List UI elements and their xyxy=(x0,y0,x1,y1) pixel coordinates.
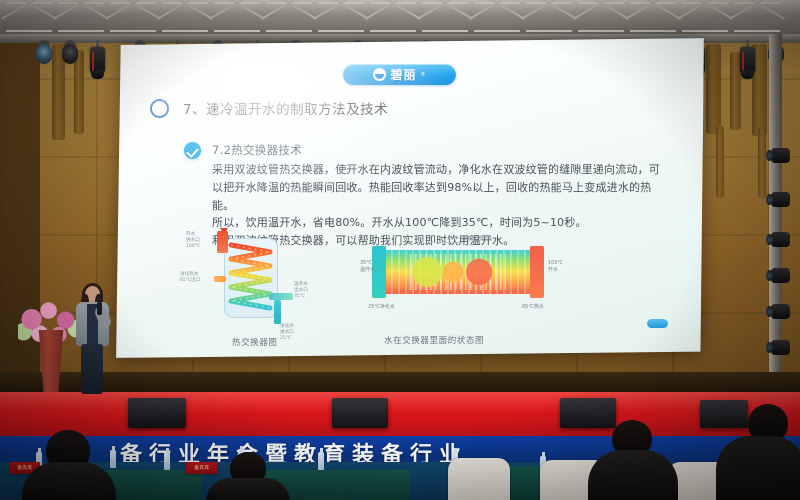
check-circle-icon xyxy=(184,142,201,159)
page-badge[interactable] xyxy=(647,319,668,328)
stage-monitor-speaker xyxy=(560,398,616,428)
warm-water-outlet xyxy=(269,293,293,300)
side-light xyxy=(771,148,790,163)
section-title: 7.2热交换器技术 xyxy=(212,142,664,158)
audience-shoulders xyxy=(716,436,800,500)
name-placard: 嘉宾席 xyxy=(186,462,218,474)
coil-graphic xyxy=(227,242,275,314)
stage-monitor-speaker xyxy=(700,400,748,428)
diagram-label: 双波纹管传热 xyxy=(462,236,492,243)
audience-shoulders xyxy=(22,462,116,500)
diagram-vertical-exchanger: 开水进水口100℃ 净化热水85℃出口 温开水出水口35℃ 净化水进水口25℃ … xyxy=(176,234,366,352)
brand-badge: 碧丽 ® xyxy=(343,64,456,85)
purified-hot-outlet xyxy=(214,276,226,282)
microphone-icon xyxy=(97,302,102,315)
projection-screen: 碧丽 ® 7、速冷温开水的制取方法及技术 7.2热交换器技术 采用双波纹管热交换… xyxy=(116,38,704,358)
slide-heading-text: 7、速冷温开水的制取方法及技术 xyxy=(183,98,388,118)
stage-edge xyxy=(0,372,800,392)
side-light xyxy=(771,340,790,355)
side-light xyxy=(771,192,790,207)
diagram-label: 35℃温开水 xyxy=(360,260,375,273)
presentation-slide: 碧丽 ® 7、速冷温开水的制取方法及技术 7.2热交换器技术 采用双波纹管热交换… xyxy=(116,38,704,358)
diagram-label: 净化水进水口25℃ xyxy=(280,324,294,343)
slide-heading: 7、速冷温开水的制取方法及技术 xyxy=(150,98,388,118)
side-light xyxy=(771,268,790,283)
hot-water-inlet xyxy=(217,231,228,253)
diagram-label: 85℃热水 xyxy=(522,304,544,311)
purified-water-inlet xyxy=(274,300,281,324)
diagram-label: 开水进水口100℃ xyxy=(186,232,200,251)
diagram-label: 温开水出水口35℃ xyxy=(294,282,308,301)
ceiling-truss xyxy=(0,0,800,34)
diagram-label: 25℃净化水 xyxy=(368,304,395,311)
hot-outlet-cap xyxy=(530,246,544,298)
diagram-label: 净化热水85℃出口 xyxy=(180,272,200,284)
stage-monitor-speaker xyxy=(332,398,388,428)
wall-column xyxy=(74,50,84,134)
screenshot-root: 碧丽 ® 7、速冷温开水的制取方法及技术 7.2热交换器技术 采用双波纹管热交换… xyxy=(0,0,800,500)
chair-back xyxy=(448,458,510,500)
section-paragraph-2: 所以，饮用温开水，省电80%。开水从100℃降到35℃，时间为5~10秒。 xyxy=(212,214,664,232)
wall-column xyxy=(716,126,724,198)
side-light xyxy=(771,304,790,319)
registered-mark-icon: ® xyxy=(421,72,426,78)
diagram-water-state: 双波纹管传热 35℃温开水 100℃开水 25℃净化水 85℃热水 水在交换器里… xyxy=(366,234,646,352)
circle-bullet-icon xyxy=(150,99,169,118)
side-truss xyxy=(769,34,782,424)
wall-column xyxy=(758,126,766,198)
exchanger-tank xyxy=(224,238,278,318)
stage-monitor-speaker xyxy=(128,398,186,428)
audience-shoulders xyxy=(206,478,290,500)
brand-name: 碧丽 xyxy=(390,69,416,81)
audience-shoulders xyxy=(588,450,678,500)
diagram-caption: 热交换器图 xyxy=(232,336,278,348)
section-paragraph-1: 采用双波纹管热交换器，使开水在内波纹管流动，净化水在双波纹管的缝隙里递向流动，可… xyxy=(212,161,664,214)
diagram-caption: 水在交换器里面的状态图 xyxy=(384,334,484,346)
brand-logo-icon xyxy=(373,68,386,81)
slide-diagrams: 开水进水口100℃ 净化热水85℃出口 温开水出水口35℃ 净化水进水口25℃ … xyxy=(176,234,646,352)
exchanger-body xyxy=(384,250,532,294)
side-light xyxy=(771,232,790,247)
presenter xyxy=(70,286,114,396)
diagram-label: 100℃开水 xyxy=(548,260,563,273)
wall-column xyxy=(706,44,721,134)
carpet-highlight xyxy=(0,392,800,412)
